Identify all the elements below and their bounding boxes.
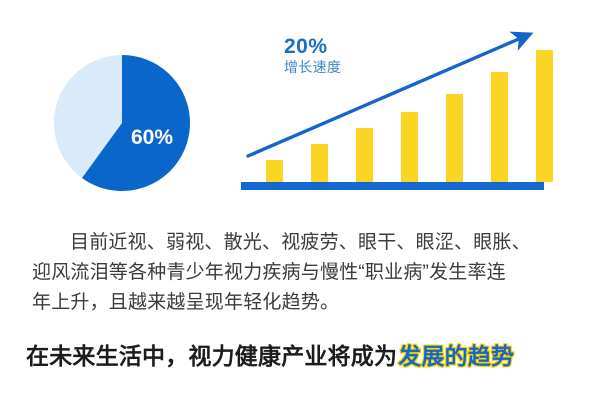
infographic-charts-area: 60% (0, 0, 600, 215)
pie-chart: 60% (54, 55, 190, 191)
headline: 在未来生活中，视力健康产业将成为发展的趋势 (26, 343, 586, 369)
bar-6 (491, 72, 508, 182)
body-paragraph: 目前近视、弱视、散光、视疲劳、眼干、眼涩、眼胀、 迎风流泪等各种青少年视力疾病与… (32, 228, 572, 318)
bar-2 (311, 144, 328, 182)
trend-arrow-icon (248, 38, 521, 156)
bar-3 (356, 128, 373, 182)
paragraph-line-1-text: 目前近视、弱视、散光、视疲劳、眼干、眼涩、眼胀、 (70, 232, 531, 253)
pie-chart-svg (54, 55, 190, 191)
paragraph-line-3: 年上升，且越来越呈现年轻化趋势。 (32, 288, 572, 318)
bar-chart (235, 25, 555, 200)
headline-accent: 发展的趋势 (398, 343, 514, 369)
bar-1 (266, 160, 283, 182)
paragraph-line-2: 迎风流泪等各种青少年视力疾病与慢性“职业病”发生率连 (32, 258, 572, 288)
bar-chart-svg (235, 25, 555, 200)
paragraph-line-1: 目前近视、弱视、散光、视疲劳、眼干、眼涩、眼胀、 (32, 228, 572, 258)
bar-4 (401, 112, 418, 182)
headline-prefix: 在未来生活中，视力健康产业将成为 (26, 343, 397, 369)
bar-5 (446, 94, 463, 182)
bar-7 (536, 50, 553, 182)
chart-baseline (241, 182, 544, 190)
infographic-page: 60% (0, 0, 600, 400)
